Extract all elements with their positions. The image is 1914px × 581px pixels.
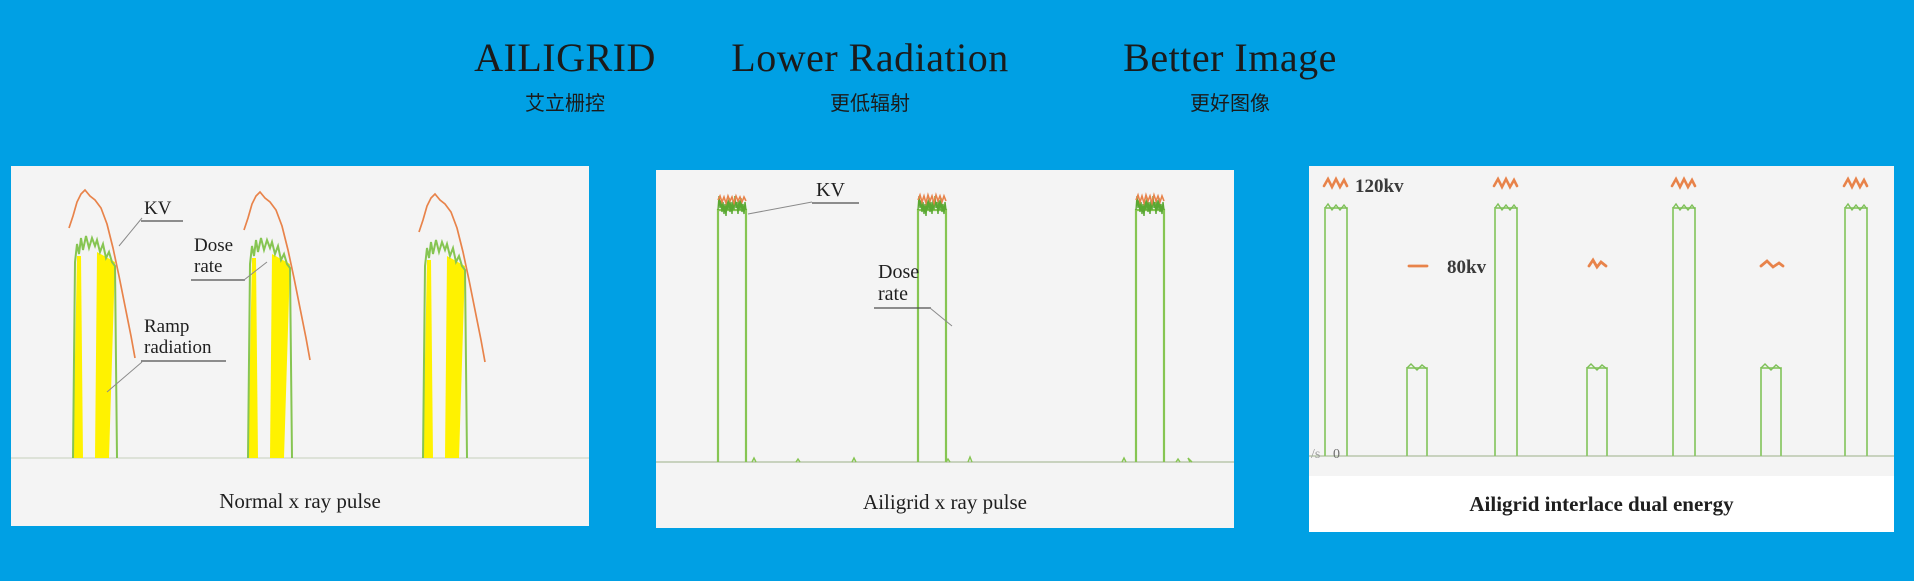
header-title-cn-3: 更好图像 <box>1065 90 1395 116</box>
dose-pulse-1 <box>718 210 746 462</box>
pulse-120kv-1 <box>1325 208 1347 456</box>
leader-line-kv <box>119 218 142 246</box>
leader-line-ramp-radiation <box>107 362 142 392</box>
annotation-kv-label: KV <box>816 179 845 201</box>
plot-area-ailigrid-interlace: 120kv 80kv /s 0 <box>1309 166 1894 476</box>
header-title-cn-2: 更低辐射 <box>690 90 1050 116</box>
legend-label-120kv: 120kv <box>1355 176 1404 197</box>
annotation-dose-label: Dose <box>878 261 919 283</box>
kv-noise-top-1 <box>718 196 746 203</box>
annotation-rate-label: rate <box>194 256 222 277</box>
header-group-lower-radiation: Lower Radiation 更低辐射 <box>690 35 1050 116</box>
caption-strip-normal-pulse: Normal x ray pulse <box>11 476 589 526</box>
header-title-en-3: Better Image <box>1065 35 1395 81</box>
kv-marker-120kv-3 <box>1672 179 1695 187</box>
pulse-120kv-3 <box>1673 208 1695 456</box>
header-title-en-2: Lower Radiation <box>690 35 1050 81</box>
dose-pulse-2 <box>918 210 946 462</box>
annotation-kv-label: KV <box>144 198 172 219</box>
pulse-120kv-2 <box>1495 208 1517 456</box>
chart-panel-normal-pulse: KV Dose rate Ramp radiation Normal x ray… <box>11 166 589 526</box>
kv-marker-120kv-4 <box>1844 179 1867 187</box>
y-axis-unit-label: /s <box>1311 447 1320 462</box>
annotation-rate-label: rate <box>878 283 908 305</box>
panel-caption-ailigrid-interlace: Ailigrid interlace dual energy <box>1469 492 1733 517</box>
pulse-120kv-top-4 <box>1845 204 1867 210</box>
y-axis-zero-label: 0 <box>1333 447 1340 462</box>
pulse-80kv-3 <box>1761 368 1781 456</box>
pulse-80kv-top-3 <box>1761 364 1781 370</box>
kv-marker-80kv-3 <box>1761 261 1783 267</box>
header-title-cn-1: 艾立栅控 <box>430 90 700 116</box>
pulse-80kv-top-1 <box>1407 364 1427 370</box>
pulse-80kv-1 <box>1407 368 1427 456</box>
ramp-fill-right-3 <box>445 256 465 458</box>
caption-strip-ailigrid-pulse: Ailigrid x ray pulse <box>656 476 1234 528</box>
plot-area-ailigrid-pulse: KV Dose rate <box>656 170 1234 476</box>
kv-marker-80kv-2 <box>1589 260 1606 267</box>
pulse-80kv-top-2 <box>1587 364 1607 370</box>
kv-noise-top-2 <box>918 195 946 203</box>
pulse-120kv-top-3 <box>1673 204 1695 210</box>
header-title-en-1: AILIGRID <box>430 35 700 81</box>
header-group-ailigrid: AILIGRID 艾立栅控 <box>430 35 700 116</box>
kv-marker-120kv-2 <box>1494 179 1517 187</box>
plot-area-normal-pulse: KV Dose rate Ramp radiation <box>11 166 589 476</box>
panel-caption-normal-pulse: Normal x ray pulse <box>219 489 381 514</box>
pulse-120kv-top-1 <box>1325 204 1347 210</box>
kv-noise-top-3 <box>1136 195 1164 203</box>
caption-strip-ailigrid-interlace: Ailigrid interlace dual energy <box>1309 476 1894 532</box>
ramp-fill-right-2 <box>270 254 290 458</box>
ramp-fill-right-1 <box>95 252 115 458</box>
annotation-dose-label: Dose <box>194 235 233 256</box>
legend-label-80kv: 80kv <box>1447 257 1487 278</box>
pulse-80kv-2 <box>1587 368 1607 456</box>
chart-panel-ailigrid-interlace: 120kv 80kv /s 0 Ailigrid interlace dual … <box>1309 166 1894 532</box>
annotation-radiation-label: radiation <box>144 337 212 358</box>
dose-pulse-3 <box>1136 210 1164 462</box>
leader-line-dose-rate <box>930 308 952 326</box>
panel-caption-ailigrid-pulse: Ailigrid x ray pulse <box>863 490 1027 515</box>
header-banner: AILIGRID 艾立栅控 Lower Radiation 更低辐射 Bette… <box>0 0 1914 160</box>
pulse-120kv-top-2 <box>1495 204 1517 210</box>
annotation-ramp-label: Ramp <box>144 316 189 337</box>
leader-line-kv <box>748 202 812 214</box>
kv-marker-120kv-1 <box>1324 179 1347 187</box>
pulse-120kv-4 <box>1845 208 1867 456</box>
kv-marker-group-120kv <box>1324 179 1867 187</box>
header-group-better-image: Better Image 更好图像 <box>1065 35 1395 116</box>
chart-panel-ailigrid-pulse: KV Dose rate Ailigrid x ray pulse <box>656 170 1234 528</box>
